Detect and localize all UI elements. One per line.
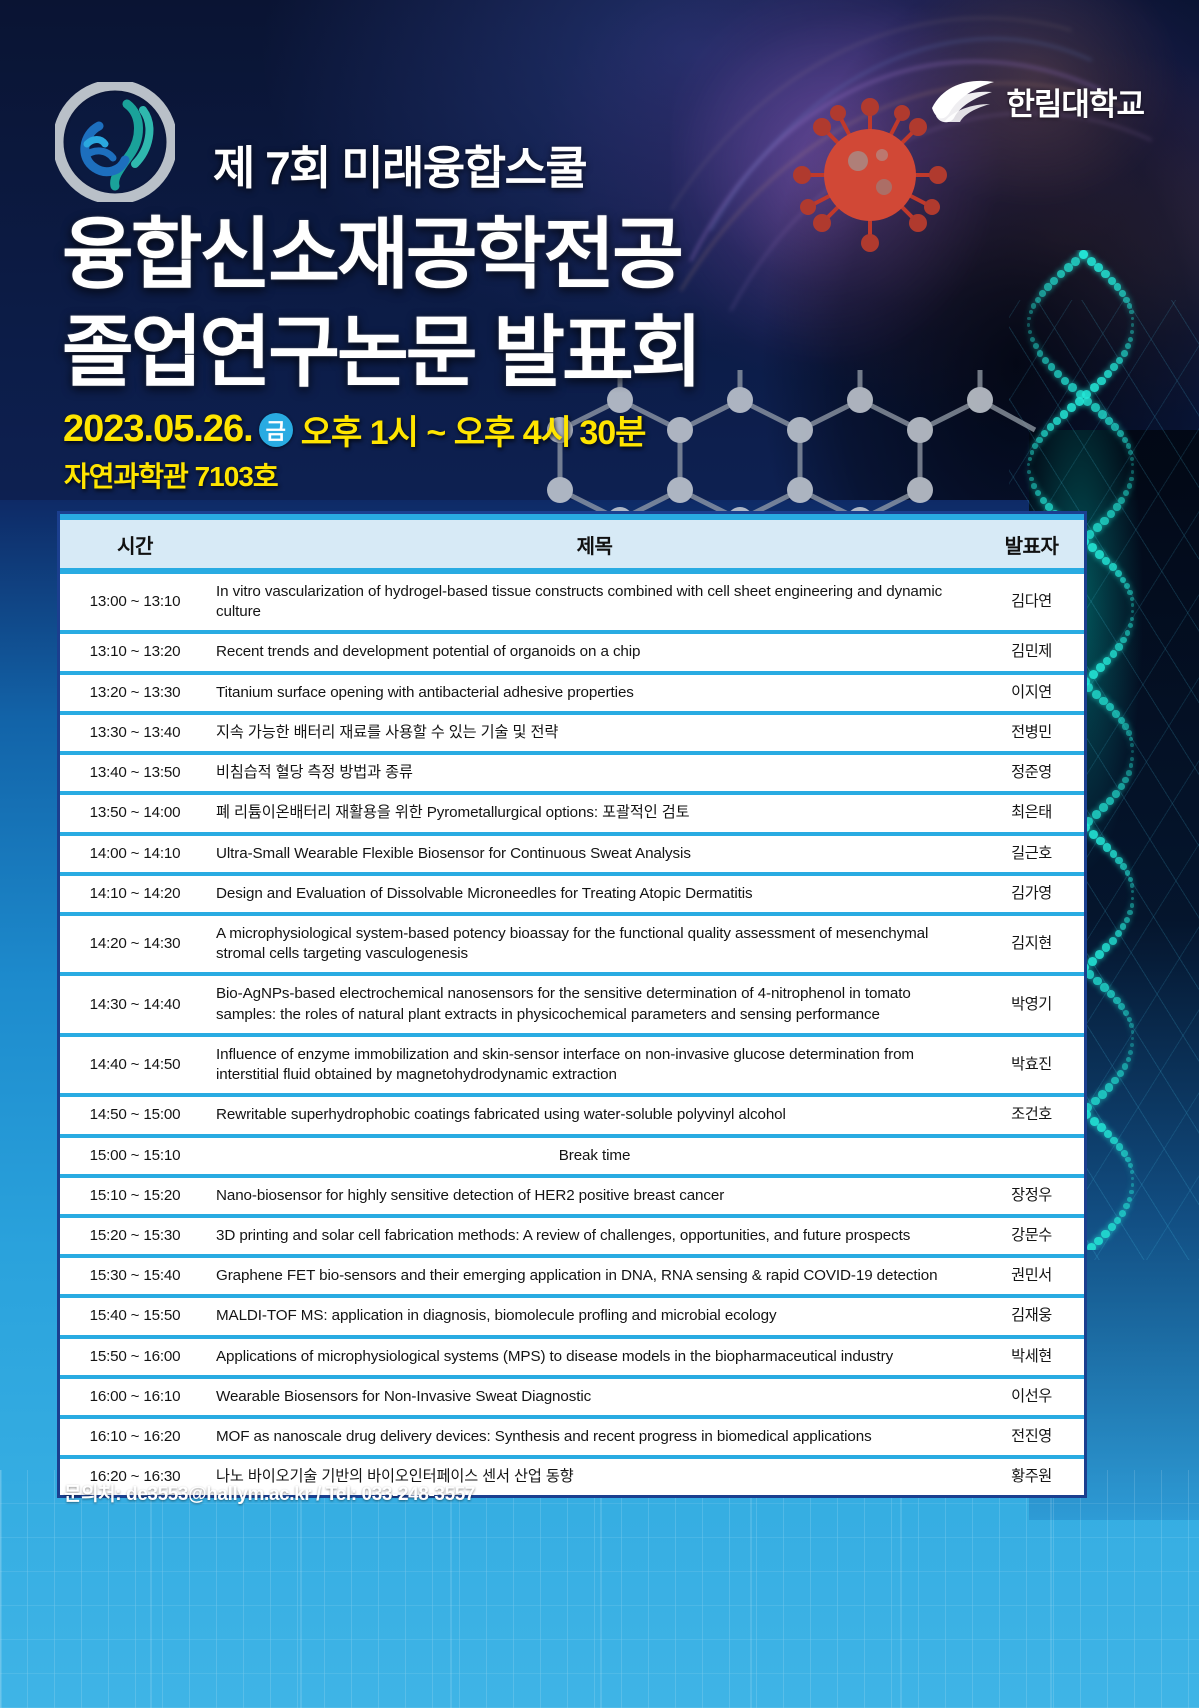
table-row: 15:30 ~ 15:40Graphene FET bio-sensors an… — [60, 1256, 1084, 1296]
table-row: 15:40 ~ 15:50MALDI-TOF MS: application i… — [60, 1296, 1084, 1336]
table-row: 15:00 ~ 15:10Break time — [60, 1136, 1084, 1176]
cell-title: In vitro vascularization of hydrogel-bas… — [210, 571, 979, 632]
table-row: 14:40 ~ 14:50Influence of enzyme immobil… — [60, 1035, 1084, 1095]
university-logo: 한림대학교 — [930, 78, 1144, 124]
cell-title: Rewritable superhydrophobic coatings fab… — [210, 1095, 979, 1135]
event-venue: 자연과학관 7103호 — [64, 455, 278, 495]
cell-presenter: 김재웅 — [979, 1296, 1084, 1336]
cell-presenter: 황주원 — [979, 1457, 1084, 1495]
table-row: 13:50 ~ 14:00폐 리튬이온배터리 재활용을 위한 Pyrometal… — [60, 793, 1084, 833]
cell-time: 15:10 ~ 15:20 — [60, 1176, 210, 1216]
cell-presenter: 김민제 — [979, 632, 1084, 672]
table-row: 14:20 ~ 14:30A microphysiological system… — [60, 914, 1084, 974]
cell-presenter: 이지연 — [979, 673, 1084, 713]
department-logo — [55, 82, 175, 202]
table-row: 15:10 ~ 15:20Nano-biosensor for highly s… — [60, 1176, 1084, 1216]
cell-presenter: 장정우 — [979, 1176, 1084, 1216]
cell-time: 13:20 ~ 13:30 — [60, 673, 210, 713]
date-time-bar: 2023.05.26. 금 오후 1시 ~ 오후 4시 30분 — [63, 405, 645, 454]
cell-presenter: 김다연 — [979, 571, 1084, 632]
schedule-table: 시간 제목 발표자 13:00 ~ 13:10In vitro vascular… — [60, 514, 1084, 1495]
table-row: 14:10 ~ 14:20Design and Evaluation of Di… — [60, 874, 1084, 914]
wave-bird-icon — [930, 78, 996, 124]
schedule-table-body: 13:00 ~ 13:10In vitro vascularization of… — [60, 571, 1084, 1495]
cell-presenter: 조건호 — [979, 1095, 1084, 1135]
cell-time: 14:20 ~ 14:30 — [60, 914, 210, 974]
poster-title-line2: 졸업연구논문 발표회 — [62, 313, 700, 393]
event-time-range: 오후 1시 ~ 오후 4시 30분 — [301, 405, 646, 454]
table-row: 15:20 ~ 15:303D printing and solar cell … — [60, 1216, 1084, 1256]
table-row: 14:30 ~ 14:40Bio-AgNPs-based electrochem… — [60, 974, 1084, 1034]
column-header-title: 제목 — [210, 517, 979, 571]
cell-time: 13:50 ~ 14:00 — [60, 793, 210, 833]
cell-title: MOF as nanoscale drug delivery devices: … — [210, 1417, 979, 1457]
cell-time: 16:00 ~ 16:10 — [60, 1377, 210, 1417]
cell-presenter: 박영기 — [979, 974, 1084, 1034]
cell-time: 14:40 ~ 14:50 — [60, 1035, 210, 1095]
cell-title: Recent trends and development potential … — [210, 632, 979, 672]
cell-presenter: 전병민 — [979, 713, 1084, 753]
cell-title: Graphene FET bio-sensors and their emerg… — [210, 1256, 979, 1296]
table-row: 13:20 ~ 13:30Titanium surface opening wi… — [60, 673, 1084, 713]
cell-presenter: 김가영 — [979, 874, 1084, 914]
cell-presenter: 김지현 — [979, 914, 1084, 974]
cell-time: 14:10 ~ 14:20 — [60, 874, 210, 914]
cell-title: A microphysiological system-based potenc… — [210, 914, 979, 974]
contact-footer: 문의처: de3553@hallym.ac.kr / Tel: 033-248-… — [64, 1479, 475, 1506]
cell-title: Influence of enzyme immobilization and s… — [210, 1035, 979, 1095]
table-header-row: 시간 제목 발표자 — [60, 517, 1084, 571]
column-header-time: 시간 — [60, 517, 210, 571]
cell-presenter — [979, 1136, 1084, 1176]
schedule-table-wrapper: 시간 제목 발표자 13:00 ~ 13:10In vitro vascular… — [57, 511, 1087, 1498]
cell-presenter: 전진영 — [979, 1417, 1084, 1457]
cell-presenter: 강문수 — [979, 1216, 1084, 1256]
cell-title: Bio-AgNPs-based electrochemical nanosens… — [210, 974, 979, 1034]
cell-time: 15:40 ~ 15:50 — [60, 1296, 210, 1336]
cell-time: 15:30 ~ 15:40 — [60, 1256, 210, 1296]
cell-title: Nano-biosensor for highly sensitive dete… — [210, 1176, 979, 1216]
cell-title: Ultra-Small Wearable Flexible Biosensor … — [210, 834, 979, 874]
cell-time: 13:30 ~ 13:40 — [60, 713, 210, 753]
cell-presenter: 최은태 — [979, 793, 1084, 833]
cell-presenter: 권민서 — [979, 1256, 1084, 1296]
cell-presenter: 정준영 — [979, 753, 1084, 793]
table-row: 15:50 ~ 16:00Applications of microphysio… — [60, 1337, 1084, 1377]
cell-time: 14:50 ~ 15:00 — [60, 1095, 210, 1135]
cell-time: 13:00 ~ 13:10 — [60, 571, 210, 632]
cell-title: Design and Evaluation of Dissolvable Mic… — [210, 874, 979, 914]
weekday-badge: 금 — [259, 413, 293, 447]
cell-presenter: 이선우 — [979, 1377, 1084, 1417]
event-series-title: 제 7회 미래융합스쿨 — [213, 132, 586, 198]
university-name: 한림대학교 — [1006, 79, 1144, 124]
table-row: 16:10 ~ 16:20MOF as nanoscale drug deliv… — [60, 1417, 1084, 1457]
schedule-table-head: 시간 제목 발표자 — [60, 517, 1084, 571]
cell-time: 15:00 ~ 15:10 — [60, 1136, 210, 1176]
cell-time: 13:40 ~ 13:50 — [60, 753, 210, 793]
cell-title: Wearable Biosensors for Non-Invasive Swe… — [210, 1377, 979, 1417]
table-row: 16:00 ~ 16:10Wearable Biosensors for Non… — [60, 1377, 1084, 1417]
cell-title: 3D printing and solar cell fabrication m… — [210, 1216, 979, 1256]
table-row: 14:50 ~ 15:00Rewritable superhydrophobic… — [60, 1095, 1084, 1135]
cell-break-label: Break time — [210, 1136, 979, 1176]
poster-title-line1: 융합신소재공학전공 — [62, 215, 681, 295]
cell-title: 폐 리튬이온배터리 재활용을 위한 Pyrometallurgical opti… — [210, 793, 979, 833]
cell-title: Titanium surface opening with antibacter… — [210, 673, 979, 713]
cell-time: 16:10 ~ 16:20 — [60, 1417, 210, 1457]
cell-presenter: 길근호 — [979, 834, 1084, 874]
table-row: 14:00 ~ 14:10Ultra-Small Wearable Flexib… — [60, 834, 1084, 874]
cell-presenter: 박세현 — [979, 1337, 1084, 1377]
cell-time: 14:30 ~ 14:40 — [60, 974, 210, 1034]
cell-title: MALDI-TOF MS: application in diagnosis, … — [210, 1296, 979, 1336]
cell-title: 지속 가능한 배터리 재료를 사용할 수 있는 기술 및 전략 — [210, 713, 979, 753]
table-row: 13:00 ~ 13:10In vitro vascularization of… — [60, 571, 1084, 632]
cell-presenter: 박효진 — [979, 1035, 1084, 1095]
cell-time: 15:50 ~ 16:00 — [60, 1337, 210, 1377]
table-row: 13:40 ~ 13:50비침습적 혈당 측정 방법과 종류정준영 — [60, 753, 1084, 793]
column-header-presenter: 발표자 — [979, 517, 1084, 571]
cell-time: 15:20 ~ 15:30 — [60, 1216, 210, 1256]
cell-title: Applications of microphysiological syste… — [210, 1337, 979, 1377]
virus-particle-decoration — [790, 95, 950, 255]
cell-time: 13:10 ~ 13:20 — [60, 632, 210, 672]
event-date: 2023.05.26. — [63, 408, 253, 451]
cell-title: 비침습적 혈당 측정 방법과 종류 — [210, 753, 979, 793]
table-row: 13:30 ~ 13:40지속 가능한 배터리 재료를 사용할 수 있는 기술 … — [60, 713, 1084, 753]
poster-canvas: 한림대학교 제 7회 미래융합스쿨 융합신소재공학전공 졸업연구논문 발표회 2… — [0, 0, 1199, 1708]
cell-time: 14:00 ~ 14:10 — [60, 834, 210, 874]
table-row: 13:10 ~ 13:20Recent trends and developme… — [60, 632, 1084, 672]
